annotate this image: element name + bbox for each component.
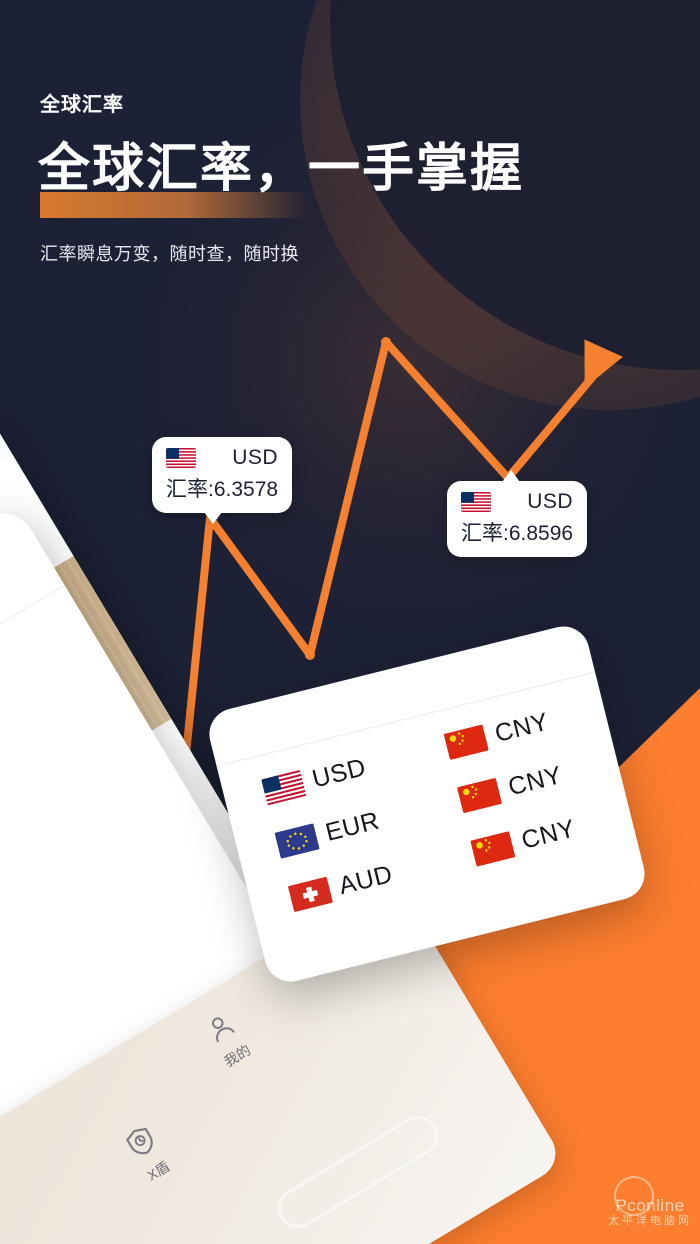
currency-code-from: AUD [336,860,396,901]
spacer [375,749,437,764]
tooltip-tail [204,512,222,524]
currency-code-to: CNY [492,708,552,749]
tooltip-header: USD [166,446,278,470]
spacer [389,803,451,818]
rate-tooltip-1[interactable]: USD 汇率:6.3578 [152,437,292,513]
profile-icon [199,1006,242,1048]
chart-point-peak [381,337,391,347]
tooltip-currency: USD [527,490,573,514]
shield-icon [118,1119,164,1164]
chart-point-valley [305,650,315,660]
currency-code-to: CNY [505,761,565,802]
ch-flag-icon [288,876,333,912]
cn-flag-icon [444,724,489,760]
tooltip-rate: 汇率:6.3578 [166,473,278,503]
nav-item-shield[interactable]: X盾 [118,1119,178,1188]
currency-code-from: USD [309,753,369,794]
watermark: Pconline 太平洋电脑网 [608,1196,692,1228]
tooltip-rate: 汇率:6.8596 [461,517,573,547]
promo-poster: 全球汇率 全球汇率，一手掌握 汇率瞬息万变，随时查，随时换 USD [0,0,700,1244]
nav-item-label: 我的 [218,1039,256,1073]
watermark-line2: 太平洋电脑网 [608,1215,692,1228]
watermark-line1: Pconline [608,1196,692,1216]
us-flag-icon [261,770,306,806]
rate-tooltip-2[interactable]: USD 汇率:6.8596 [447,481,587,557]
chart-arrow-head [569,339,624,396]
nav-item-label: X盾 [139,1154,178,1189]
us-flag-icon [166,448,196,468]
cn-flag-icon [470,831,515,867]
currency-code-to: CNY [519,814,579,855]
nav-item-profile[interactable]: 我的 [199,1006,256,1072]
eu-flag-icon [274,823,319,859]
us-flag-icon [461,492,491,512]
tooltip-tail [502,470,520,482]
currency-code-from: EUR [323,807,383,848]
tooltip-header: USD [461,490,573,514]
cn-flag-icon [457,778,502,814]
spacer [402,856,464,871]
tooltip-currency: USD [232,446,278,470]
